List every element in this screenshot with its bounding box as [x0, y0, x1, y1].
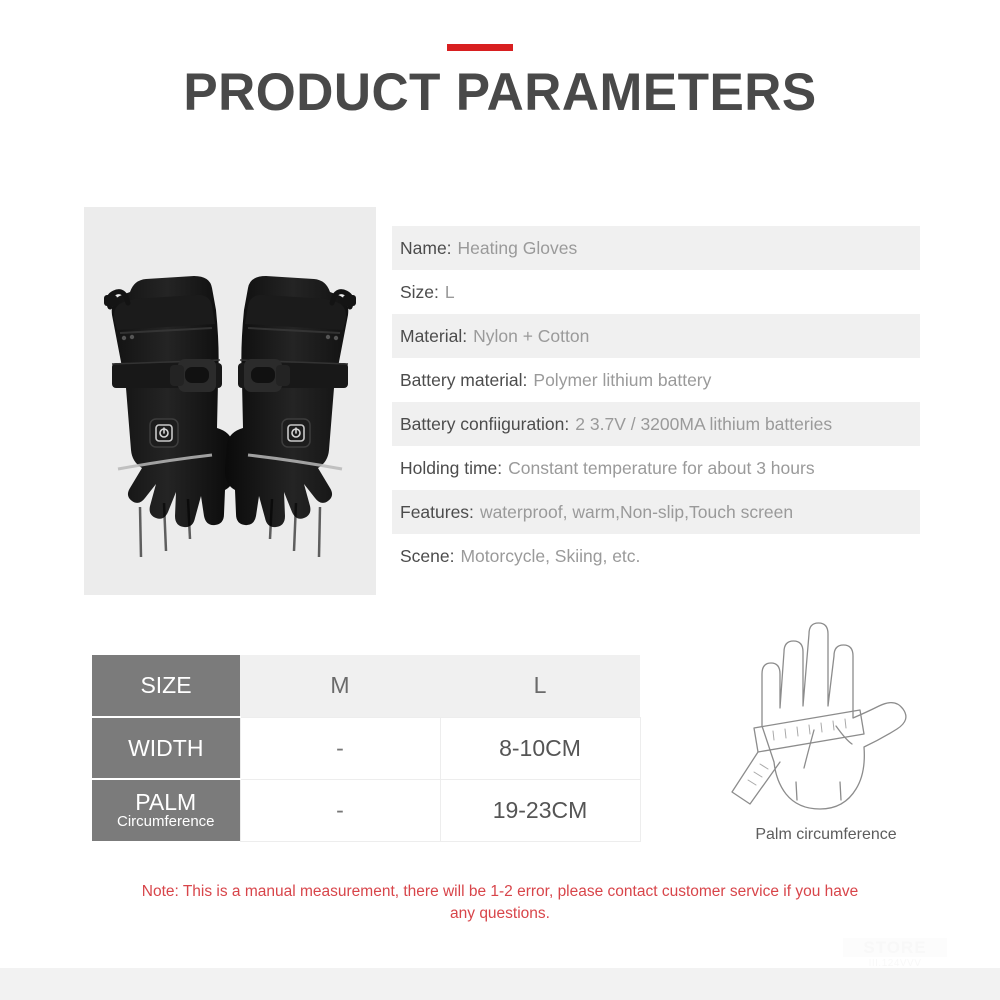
spec-label: Material:	[400, 326, 467, 347]
spec-value: Nylon + Cotton	[473, 326, 589, 347]
spec-row: Battery confiiguration: 2 3.7V / 3200MA …	[392, 402, 920, 446]
column-header-m: M	[240, 655, 440, 717]
row-header-palm-sublabel: Circumference	[92, 814, 240, 830]
row-header-width: WIDTH	[92, 717, 240, 779]
spec-label: Features:	[400, 502, 474, 523]
spec-label: Battery material:	[400, 370, 527, 391]
spec-row: Scene: Motorcycle, Skiing, etc.	[392, 534, 920, 578]
hand-diagram-caption: Palm circumference	[700, 826, 952, 844]
power-button-right	[282, 419, 310, 447]
cell-palm-l: 19-23CM	[440, 779, 640, 841]
spec-label: Holding time:	[400, 458, 502, 479]
spec-value: Heating Gloves	[458, 238, 578, 259]
table-corner-cell: SIZE	[92, 655, 240, 717]
spec-value: Motorcycle, Skiing, etc.	[460, 546, 640, 567]
column-header-l: L	[440, 655, 640, 717]
product-photo-panel	[84, 207, 376, 595]
spec-row: Battery material: Polymer lithium batter…	[392, 358, 920, 402]
spec-row: Features: waterproof, warm,Non-slip,Touc…	[392, 490, 920, 534]
product-parameters-page: PRODUCT PARAMETERS	[0, 0, 1000, 1000]
spec-row: Material: Nylon + Cotton	[392, 314, 920, 358]
table-header-row: SIZE M L	[92, 655, 640, 717]
spec-row: Holding time: Constant temperature for a…	[392, 446, 920, 490]
cell-palm-m: -	[240, 779, 440, 841]
cell-width-m: -	[240, 717, 440, 779]
title-accent-bar	[447, 44, 513, 51]
row-header-palm: PALM Circumference	[92, 779, 240, 841]
spec-row: Name: Heating Gloves	[392, 226, 920, 270]
spec-row: Size: L	[392, 270, 920, 314]
table-row: PALM Circumference - 19-23CM	[92, 779, 640, 841]
power-button-left	[150, 419, 178, 447]
heated-gloves-image	[84, 207, 376, 595]
table-row: WIDTH - 8-10CM	[92, 717, 640, 779]
spec-value: L	[445, 282, 455, 303]
spec-value: Polymer lithium battery	[533, 370, 711, 391]
watermark-line-1: STORE	[843, 938, 947, 957]
spec-label: Name:	[400, 238, 452, 259]
spec-value: Constant temperature for about 3 hours	[508, 458, 814, 479]
measurement-note: Note: This is a manual measurement, ther…	[140, 881, 860, 926]
spec-label: Battery confiiguration:	[400, 414, 569, 435]
page-title: PRODUCT PARAMETERS	[15, 62, 985, 123]
spec-label: Size:	[400, 282, 439, 303]
specifications-list: Name: Heating Gloves Size: L Material: N…	[392, 226, 920, 578]
cell-width-l: 8-10CM	[440, 717, 640, 779]
spec-value: waterproof, warm,Non-slip,Touch screen	[480, 502, 793, 523]
row-header-palm-label: PALM	[92, 791, 240, 814]
spec-value: 2 3.7V / 3200MA lithium batteries	[575, 414, 832, 435]
palm-measurement-diagram	[718, 622, 934, 822]
size-chart-table: SIZE M L WIDTH - 8-10CM PALM Circumferen…	[92, 655, 641, 842]
footer-strip	[0, 968, 1000, 1000]
spec-label: Scene:	[400, 546, 454, 567]
